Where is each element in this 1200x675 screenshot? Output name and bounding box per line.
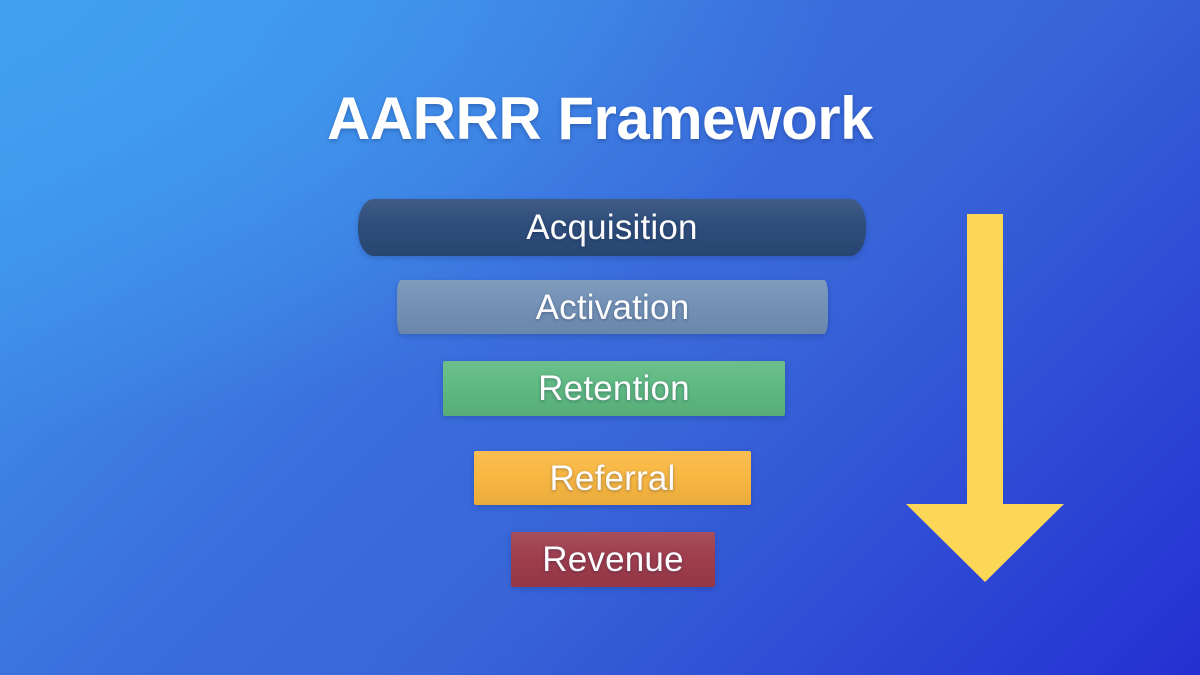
slide-canvas: AARRR Framework Acquisition Activation R… bbox=[0, 0, 1200, 675]
funnel-stage-label: Retention bbox=[538, 371, 690, 406]
funnel-stage-label: Activation bbox=[536, 290, 690, 325]
funnel-stage-activation[interactable]: Activation bbox=[397, 280, 828, 334]
funnel-stage-acquisition[interactable]: Acquisition bbox=[358, 199, 866, 256]
funnel-stage-label: Revenue bbox=[542, 542, 684, 577]
funnel-stage-retention[interactable]: Retention bbox=[443, 361, 785, 416]
funnel-stage-label: Acquisition bbox=[526, 210, 697, 245]
funnel-stage-referral[interactable]: Referral bbox=[474, 451, 751, 505]
funnel-stage-revenue[interactable]: Revenue bbox=[511, 532, 715, 587]
funnel-stage-label: Referral bbox=[549, 461, 675, 496]
down-arrow-icon bbox=[906, 214, 1064, 582]
